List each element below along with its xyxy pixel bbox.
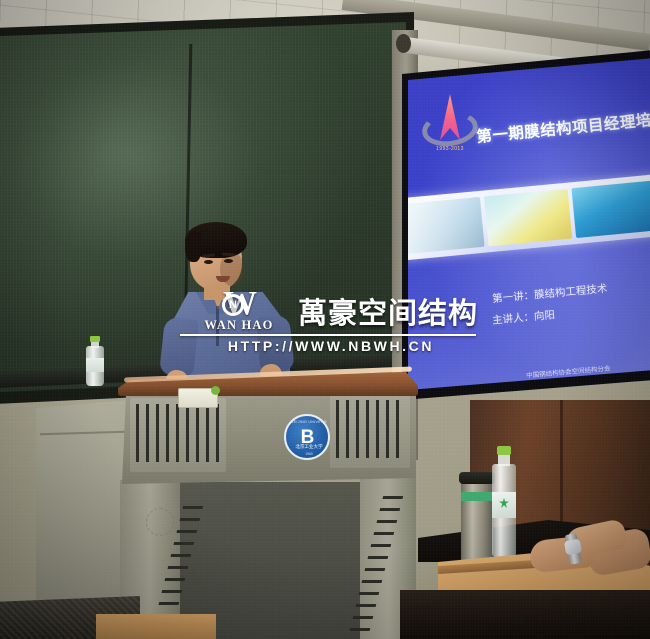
watermark: W N WAN HAO 萬豪空间结构 HTTP://WWW.NBWH.CN xyxy=(186,288,476,356)
bottle-label xyxy=(86,358,104,372)
university-emblem: BEIJING UNIVERSITY OF TECHNOLOGY B 北京工业大… xyxy=(284,414,330,460)
presenter-eye-right xyxy=(224,259,233,263)
photo-scene: 1993-2013 第一期膜结构项目经理培训班 第一讲：膜结构工程技术 主讲人：… xyxy=(0,0,650,639)
watermark-chinese: 萬豪空间结构 xyxy=(298,290,478,332)
slide-logo-icon: 1993-2013 xyxy=(422,90,478,152)
wristwatch-face xyxy=(564,539,582,556)
lectern-label-sticker xyxy=(178,388,218,408)
emblem-arc-text: BEIJING UNIVERSITY OF TECHNOLOGY xyxy=(291,420,327,432)
lectern-speaker-grille-right xyxy=(336,400,404,458)
presenter-eye-left xyxy=(204,260,213,264)
bottle-cap xyxy=(497,446,511,455)
watermark-pinyin: WAN HAO xyxy=(186,318,292,333)
water-bottle-right xyxy=(492,446,516,558)
sticker-dot-icon xyxy=(211,386,220,395)
slide-logo-years: 1993-2013 xyxy=(424,146,476,152)
watermark-mark-inner: N xyxy=(225,297,241,313)
watermark-mark-circle: N xyxy=(222,294,244,316)
emblem-year: 1960 xyxy=(290,452,328,456)
emblem-chinese-name: 北京工业大学 xyxy=(290,444,328,450)
watermark-url: HTTP://WWW.NBWH.CN xyxy=(186,338,476,354)
bottle-cap xyxy=(90,336,100,342)
bottle-neck xyxy=(498,454,510,466)
thermos-lid xyxy=(459,472,495,484)
watermark-logo-icon: W N WAN HAO xyxy=(186,288,292,332)
audience-seat-desktop xyxy=(96,614,216,639)
lectern-seal xyxy=(146,508,174,536)
desk-shadow xyxy=(400,590,650,639)
thermos-band xyxy=(461,492,493,501)
lectern-speaker-grille-left xyxy=(136,404,220,462)
watermark-rule xyxy=(180,334,476,336)
presenter-hair-side xyxy=(185,232,201,262)
screen-roller-cap xyxy=(396,34,411,53)
water-bottle-left xyxy=(86,336,104,386)
